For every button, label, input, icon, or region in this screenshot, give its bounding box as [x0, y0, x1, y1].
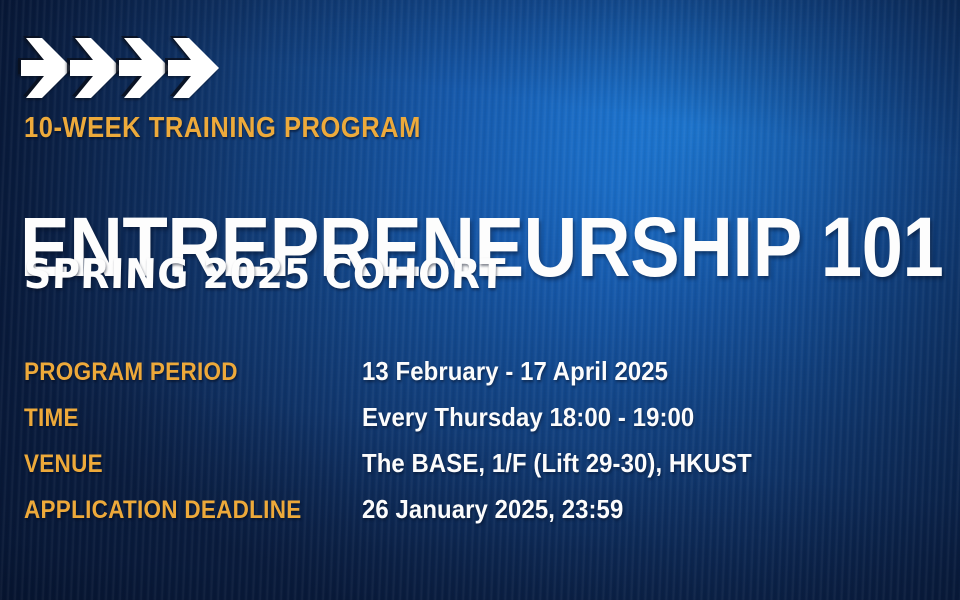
table-row: TIME Every Thursday 18:00 - 19:00 — [24, 404, 824, 450]
program-eyebrow-text: 10-WEEK TRAINING PROGRAM — [24, 113, 421, 143]
chevron-arrow-group — [20, 36, 216, 100]
detail-value-time: Every Thursday 18:00 - 19:00 — [362, 404, 694, 431]
detail-value-program-period: 13 February - 17 April 2025 — [362, 358, 668, 385]
detail-value-venue: The BASE, 1/F (Lift 29-30), HKUST — [362, 450, 752, 477]
table-row: PROGRAM PERIOD 13 February - 17 April 20… — [24, 358, 824, 404]
detail-label-time: TIME — [24, 405, 328, 431]
cohort-subtitle: SPRING 2025 COHORT — [23, 252, 506, 296]
detail-value-application-deadline: 26 January 2025, 23:59 — [362, 496, 623, 523]
table-row: VENUE The BASE, 1/F (Lift 29-30), HKUST — [24, 450, 824, 496]
detail-label-program-period: PROGRAM PERIOD — [24, 359, 328, 385]
detail-label-application-deadline: APPLICATION DEADLINE — [24, 497, 328, 523]
poster-canvas: 10-WEEK TRAINING PROGRAM ENTREPRENEURSHI… — [0, 0, 960, 600]
detail-label-venue: VENUE — [24, 451, 328, 477]
chevron-right-icon — [167, 36, 225, 100]
program-details-table: PROGRAM PERIOD 13 February - 17 April 20… — [24, 358, 824, 542]
poster-content: 10-WEEK TRAINING PROGRAM ENTREPRENEURSHI… — [0, 0, 960, 600]
table-row: APPLICATION DEADLINE 26 January 2025, 23… — [24, 496, 824, 542]
